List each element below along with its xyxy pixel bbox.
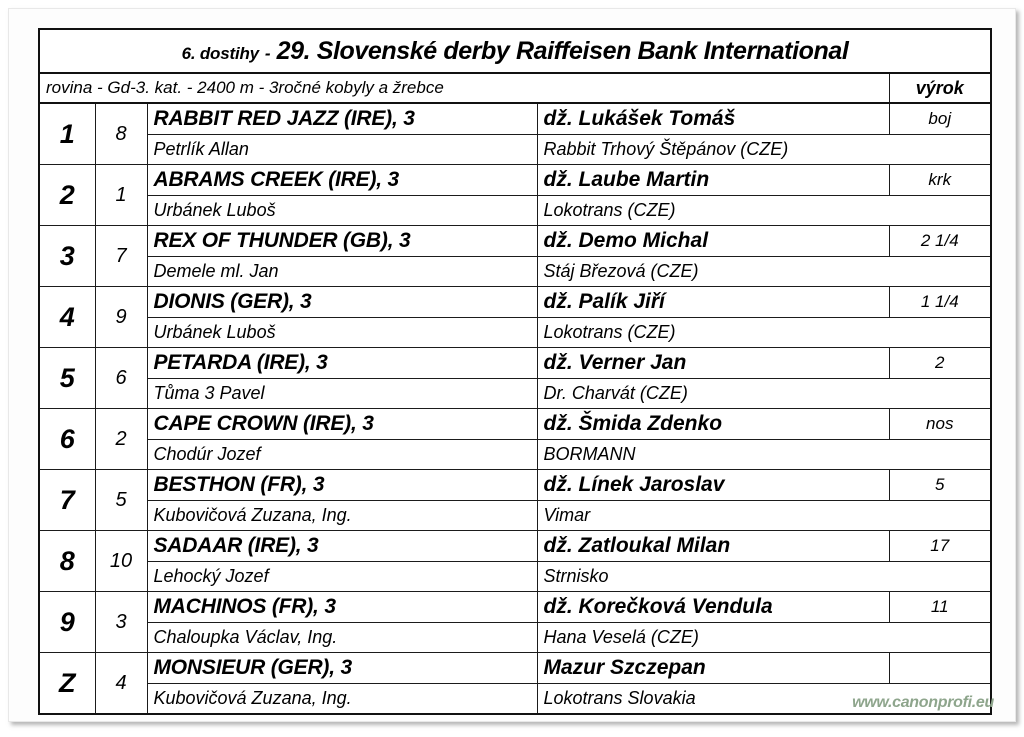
title-row: 6. dostihy-29. Slovenské derby Raiffeise… [39, 29, 991, 73]
saddle-number: 2 [95, 409, 147, 470]
verdict-margin: 5 [889, 470, 991, 501]
trainer-name: Kubovičová Zuzana, Ing. [147, 501, 537, 531]
trainer-name: Chaloupka Václav, Ing. [147, 623, 537, 653]
finish-position: 8 [39, 531, 95, 592]
horse-name: RABBIT RED JAZZ (IRE), 3 [147, 103, 537, 135]
table-row-secondary: Tůma 3 PavelDr. Charvát (CZE) [39, 379, 991, 409]
finish-position: 4 [39, 287, 95, 348]
trainer-name: Tůma 3 Pavel [147, 379, 537, 409]
owner-name: Dr. Charvát (CZE) [537, 379, 991, 409]
verdict-margin: 17 [889, 531, 991, 562]
jockey-name: Mazur Szczepan [537, 653, 889, 684]
horse-name: ABRAMS CREEK (IRE), 3 [147, 165, 537, 196]
jockey-name: dž. Verner Jan [537, 348, 889, 379]
horse-name: REX OF THUNDER (GB), 3 [147, 226, 537, 257]
table-row: 56PETARDA (IRE), 3dž. Verner Jan2 [39, 348, 991, 379]
jockey-name: dž. Palík Jiří [537, 287, 889, 318]
saddle-number: 9 [95, 287, 147, 348]
owner-name: Strnisko [537, 562, 991, 592]
table-row-secondary: Chaloupka Václav, Ing.Hana Veselá (CZE) [39, 623, 991, 653]
saddle-number: 1 [95, 165, 147, 226]
race-conditions-cell: rovina - Gd-3. kat. - 2400 m - 3ročné ko… [39, 73, 889, 103]
finish-position: 1 [39, 103, 95, 165]
trainer-name: Chodúr Jozef [147, 440, 537, 470]
table-row-secondary: Urbánek LubošLokotrans (CZE) [39, 196, 991, 226]
horse-name: MACHINOS (FR), 3 [147, 592, 537, 623]
finish-position: Z [39, 653, 95, 715]
verdict-margin: boj [889, 103, 991, 135]
owner-name: Lokotrans (CZE) [537, 318, 991, 348]
watermark-url: www.canonprofi.eu [852, 694, 994, 712]
verdict-margin [889, 653, 991, 684]
table-row: 75BESTHON (FR), 3dž. Línek Jaroslav5 [39, 470, 991, 501]
finish-position: 7 [39, 470, 95, 531]
saddle-number: 8 [95, 103, 147, 165]
table-row-secondary: Urbánek LubošLokotrans (CZE) [39, 318, 991, 348]
owner-name: Vimar [537, 501, 991, 531]
verdict-margin: nos [889, 409, 991, 440]
verdict-margin: 2 1/4 [889, 226, 991, 257]
jockey-name: dž. Zatloukal Milan [537, 531, 889, 562]
finish-position: 6 [39, 409, 95, 470]
table-row-secondary: Kubovičová Zuzana, Ing.Lokotrans Slovaki… [39, 684, 991, 715]
race-name-label: 29. Slovenské derby Raiffeisen Bank Inte… [277, 37, 849, 65]
conditions-row: rovina - Gd-3. kat. - 2400 m - 3ročné ko… [39, 73, 991, 103]
horse-name: CAPE CROWN (IRE), 3 [147, 409, 537, 440]
table-row-secondary: Kubovičová Zuzana, Ing.Vimar [39, 501, 991, 531]
saddle-number: 3 [95, 592, 147, 653]
table-row-secondary: Lehocký JozefStrnisko [39, 562, 991, 592]
race-number-label: 6. dostihy [182, 44, 259, 63]
scanned-race-result-page: 6. dostihy-29. Slovenské derby Raiffeise… [0, 0, 1024, 737]
horse-name: DIONIS (GER), 3 [147, 287, 537, 318]
finish-position: 5 [39, 348, 95, 409]
finish-position: 2 [39, 165, 95, 226]
trainer-name: Urbánek Luboš [147, 318, 537, 348]
owner-name: BORMANN [537, 440, 991, 470]
trainer-name: Demele ml. Jan [147, 257, 537, 287]
verdict-margin: 2 [889, 348, 991, 379]
trainer-name: Kubovičová Zuzana, Ing. [147, 684, 537, 715]
jockey-name: dž. Lukášek Tomáš [537, 103, 889, 135]
verdict-margin: 1 1/4 [889, 287, 991, 318]
table-row: 810SADAAR (IRE), 3dž. Zatloukal Milan17 [39, 531, 991, 562]
owner-name: Stáj Březová (CZE) [537, 257, 991, 287]
verdict-margin: krk [889, 165, 991, 196]
verdict-margin: 11 [889, 592, 991, 623]
horse-name: PETARDA (IRE), 3 [147, 348, 537, 379]
jockey-name: dž. Demo Michal [537, 226, 889, 257]
title-separator: - [259, 44, 277, 63]
trainer-name: Urbánek Luboš [147, 196, 537, 226]
verdict-column-header: výrok [889, 73, 991, 103]
owner-name: Hana Veselá (CZE) [537, 623, 991, 653]
table-row: 21ABRAMS CREEK (IRE), 3dž. Laube Martink… [39, 165, 991, 196]
table-row: 18RABBIT RED JAZZ (IRE), 3dž. Lukášek To… [39, 103, 991, 135]
jockey-name: dž. Laube Martin [537, 165, 889, 196]
table-row: 62CAPE CROWN (IRE), 3dž. Šmida Zdenkonos [39, 409, 991, 440]
race-results-table: 6. dostihy-29. Slovenské derby Raiffeise… [38, 28, 992, 715]
trainer-name: Lehocký Jozef [147, 562, 537, 592]
jockey-name: dž. Šmida Zdenko [537, 409, 889, 440]
table-row-secondary: Demele ml. JanStáj Březová (CZE) [39, 257, 991, 287]
table-row: 93MACHINOS (FR), 3dž. Korečková Vendula1… [39, 592, 991, 623]
owner-name: Rabbit Trhový Štěpánov (CZE) [537, 135, 991, 165]
owner-name: Lokotrans (CZE) [537, 196, 991, 226]
finish-position: 3 [39, 226, 95, 287]
table-row: 37REX OF THUNDER (GB), 3dž. Demo Michal2… [39, 226, 991, 257]
table-row: 49DIONIS (GER), 3dž. Palík Jiří1 1/4 [39, 287, 991, 318]
horse-name: MONSIEUR (GER), 3 [147, 653, 537, 684]
trainer-name: Petrlík Allan [147, 135, 537, 165]
saddle-number: 6 [95, 348, 147, 409]
horse-name: BESTHON (FR), 3 [147, 470, 537, 501]
saddle-number: 10 [95, 531, 147, 592]
race-title-cell: 6. dostihy-29. Slovenské derby Raiffeise… [39, 29, 991, 73]
saddle-number: 4 [95, 653, 147, 715]
table-row-secondary: Chodúr JozefBORMANN [39, 440, 991, 470]
jockey-name: dž. Línek Jaroslav [537, 470, 889, 501]
jockey-name: dž. Korečková Vendula [537, 592, 889, 623]
horse-name: SADAAR (IRE), 3 [147, 531, 537, 562]
saddle-number: 7 [95, 226, 147, 287]
saddle-number: 5 [95, 470, 147, 531]
table-row-secondary: Petrlík AllanRabbit Trhový Štěpánov (CZE… [39, 135, 991, 165]
finish-position: 9 [39, 592, 95, 653]
table-row: Z4MONSIEUR (GER), 3Mazur Szczepan [39, 653, 991, 684]
